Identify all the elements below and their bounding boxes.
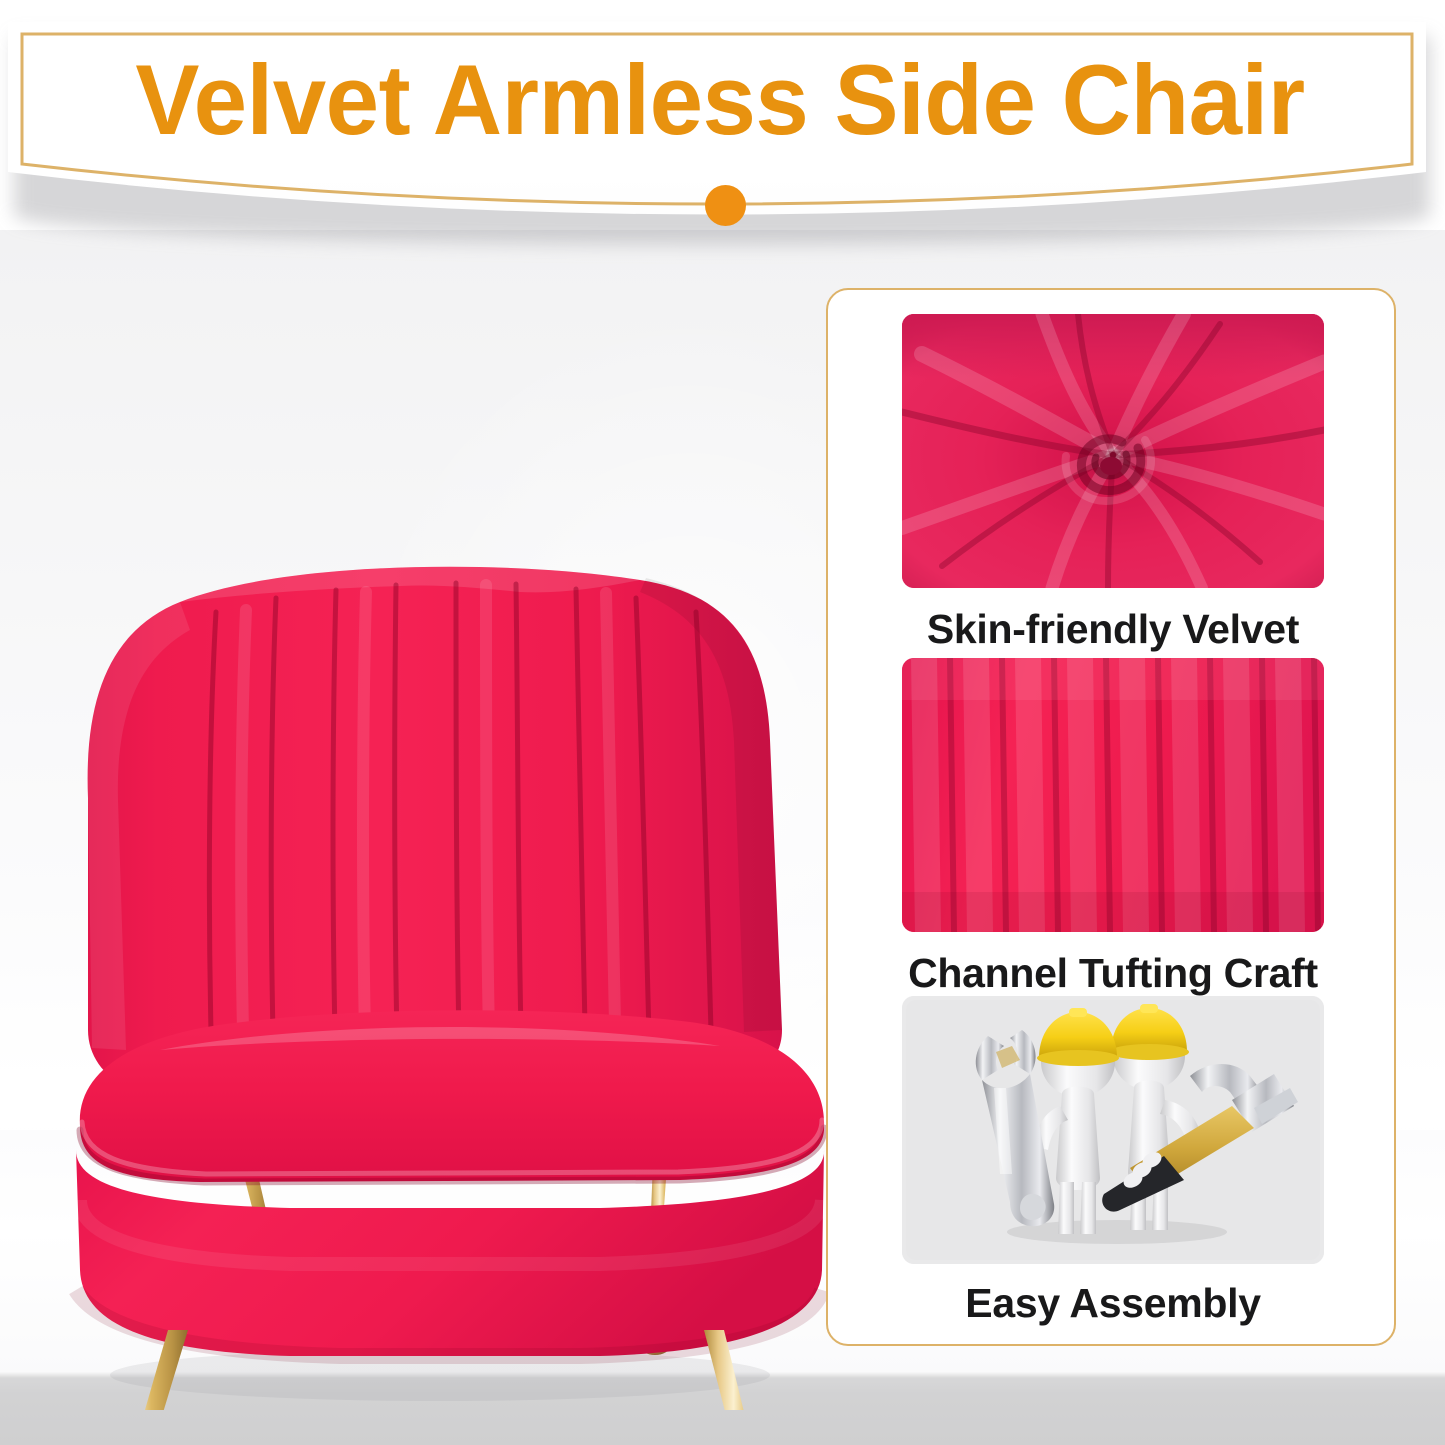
feature-panel: Skin-friendly Velvet	[826, 288, 1396, 1346]
feature-label-channel-tufting-craft: Channel Tufting Craft	[828, 950, 1398, 997]
feature-label-easy-assembly: Easy Assembly	[828, 1280, 1398, 1327]
page-title: Velvet Armless Side Chair	[41, 40, 1399, 160]
channel-tufting-closeup-photo	[902, 658, 1324, 932]
orange-bullet-dot	[705, 185, 746, 226]
product-marketing-image: Velvet Armless Side Chair	[0, 0, 1445, 1445]
assembly-workers-tools-illustration	[902, 996, 1324, 1264]
product-chair-photo	[40, 330, 840, 1410]
chair-seat-cushion	[80, 1010, 824, 1182]
feature-label-skin-friendly-velvet: Skin-friendly Velvet	[828, 606, 1398, 653]
velvet-fabric-swirl-photo	[902, 314, 1324, 588]
